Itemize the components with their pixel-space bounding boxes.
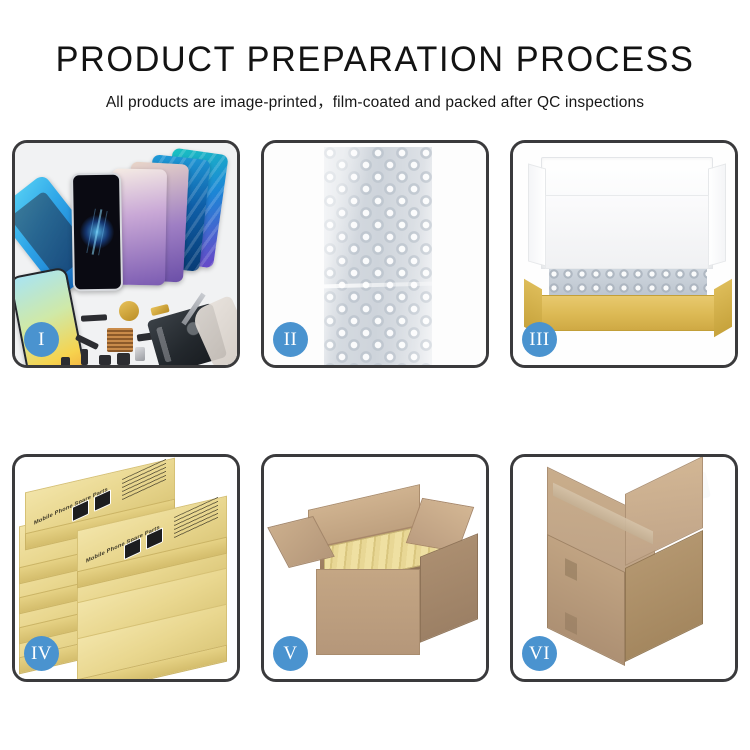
wrap-gloss bbox=[324, 147, 432, 365]
speaker-part-icon bbox=[119, 301, 139, 321]
step-panel-3: III bbox=[510, 140, 738, 368]
kraft-box-tray-icon bbox=[539, 295, 717, 331]
small-part-icon bbox=[81, 349, 88, 365]
product-preparation-page: PRODUCT PREPARATION PROCESS All products… bbox=[0, 0, 750, 750]
step-panel-4: Mobile Phone Spare Parts Mobile Phone Sp… bbox=[12, 454, 240, 682]
box-screen-image bbox=[94, 489, 111, 512]
step-badge-1: I bbox=[24, 322, 59, 357]
step-badge-3: III bbox=[522, 322, 557, 357]
step-badge-4: IV bbox=[24, 636, 59, 671]
camera-part-icon bbox=[117, 353, 130, 365]
step-panel-1: I bbox=[12, 140, 240, 368]
foam-insert-icon bbox=[545, 195, 709, 269]
page-subtitle: All products are image-printed，film-coat… bbox=[0, 90, 750, 112]
box-screen-image bbox=[146, 527, 163, 550]
step-badge-6: VI bbox=[522, 636, 557, 671]
step-badge-2: II bbox=[273, 322, 308, 357]
step-panel-2: II bbox=[261, 140, 489, 368]
step-badge-5: V bbox=[273, 636, 308, 671]
page-title: PRODUCT PREPARATION PROCESS bbox=[8, 42, 743, 77]
bubble-wrap-icon bbox=[324, 147, 432, 365]
process-steps-grid: I II III bbox=[12, 140, 738, 690]
small-part-icon bbox=[61, 357, 70, 365]
step-panel-6: VI bbox=[510, 454, 738, 682]
step-panel-5: V bbox=[261, 454, 489, 682]
phone-front-display-icon bbox=[71, 173, 123, 292]
carton-front-face bbox=[316, 569, 420, 655]
battery-part-icon bbox=[135, 347, 145, 361]
small-part-icon bbox=[99, 355, 111, 365]
grid-mesh-part-icon bbox=[107, 328, 133, 352]
page-header: PRODUCT PREPARATION PROCESS All products… bbox=[0, 0, 750, 112]
